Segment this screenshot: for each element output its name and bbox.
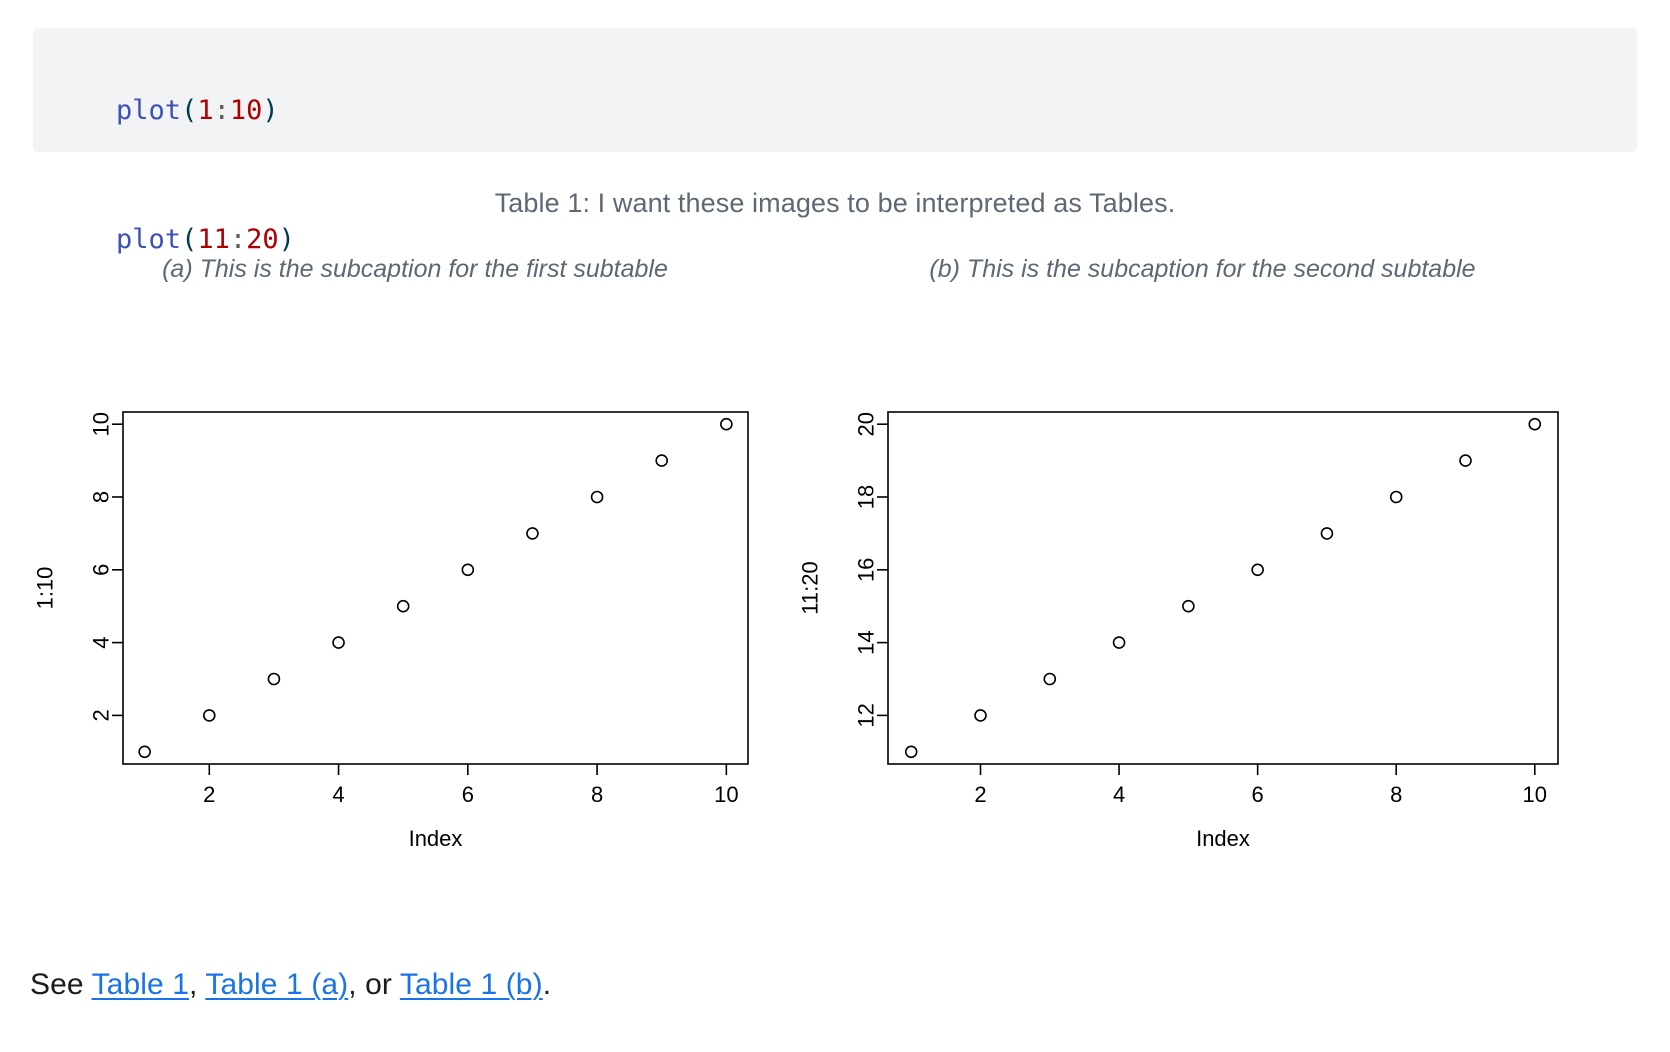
code-number-end: 20 [246,224,279,255]
data-point [1252,564,1263,575]
table-caption: Table 1: I want these images to be inter… [0,188,1670,219]
y-axis-tick-label: 20 [854,412,879,436]
link-table-1-b[interactable]: Table 1 (b) [400,968,543,1001]
subcaption-a: (a) This is the subcaption for the first… [35,255,795,284]
cross-reference-paragraph: See Table 1, Table 1 (a), or Table 1 (b)… [30,968,551,1002]
data-point [527,528,538,539]
y-axis-tick-label: 4 [89,636,114,648]
data-point [1529,419,1540,430]
code-function-name: plot [116,224,181,255]
code-close-paren: ) [279,224,295,255]
data-point [398,601,409,612]
data-point [1321,528,1332,539]
plot-panel-a: 2468101:10246810Index [30,350,790,870]
data-point [1391,491,1402,502]
code-close-paren: ) [262,95,278,126]
data-point [1114,637,1125,648]
y-axis-tick-label: 10 [89,412,114,436]
data-point [204,710,215,721]
plot-box [123,412,748,764]
link-table-1[interactable]: Table 1 [92,968,189,1001]
see-suffix: . [543,968,551,1001]
plot-box [888,412,1558,764]
link-table-1-a[interactable]: Table 1 (a) [205,968,348,1001]
data-point [906,746,917,757]
data-point [1044,674,1055,685]
x-axis-tick-label: 2 [974,782,986,807]
y-axis-tick-label: 12 [854,703,879,727]
y-axis-tick-label: 6 [89,564,114,576]
y-axis-title: 11:20 [800,561,823,614]
code-block[interactable]: plot(1:10) plot(11:20) [33,28,1637,152]
x-axis-tick-label: 2 [203,782,215,807]
scatter-plot-a: 2468101:10246810Index [30,350,790,870]
code-function-name: plot [116,95,181,126]
see-prefix: See [30,968,92,1001]
data-point [462,564,473,575]
y-axis-tick-label: 8 [89,491,114,503]
see-separator-2: , or [348,968,400,1001]
code-open-paren: ( [181,95,197,126]
code-line-1: plot(1:10) [51,46,1637,175]
code-open-paren: ( [181,224,197,255]
data-point [139,746,150,757]
x-axis-tick-label: 6 [1252,782,1264,807]
code-colon-operator: : [230,224,246,255]
data-point [1460,455,1471,466]
plot-panel-b: 121416182011:20246810Index [800,350,1600,870]
x-axis-tick-label: 4 [332,782,344,807]
scatter-plot-b: 121416182011:20246810Index [800,350,1600,870]
data-point [656,455,667,466]
data-point [333,637,344,648]
y-axis-tick-label: 18 [854,485,879,509]
x-axis-tick-label: 4 [1113,782,1125,807]
x-axis-title: Index [409,826,463,851]
data-point [1183,601,1194,612]
x-axis-title: Index [1196,826,1250,851]
data-point [975,710,986,721]
x-axis-tick-label: 6 [462,782,474,807]
data-point [268,674,279,685]
code-number-start: 11 [197,224,230,255]
x-axis-tick-label: 8 [1390,782,1402,807]
y-axis-tick-label: 14 [854,630,879,654]
y-axis-tick-label: 16 [854,558,879,582]
y-axis-title: 1:10 [33,567,58,610]
code-number-end: 10 [230,95,263,126]
y-axis-tick-label: 2 [89,709,114,721]
data-point [592,491,603,502]
code-colon-operator: : [214,95,230,126]
x-axis-tick-label: 8 [591,782,603,807]
subcaption-b: (b) This is the subcaption for the secon… [790,255,1615,284]
x-axis-tick-label: 10 [714,782,738,807]
see-separator-1: , [189,968,205,1001]
code-number-start: 1 [197,95,213,126]
x-axis-tick-label: 10 [1523,782,1547,807]
data-point [721,419,732,430]
